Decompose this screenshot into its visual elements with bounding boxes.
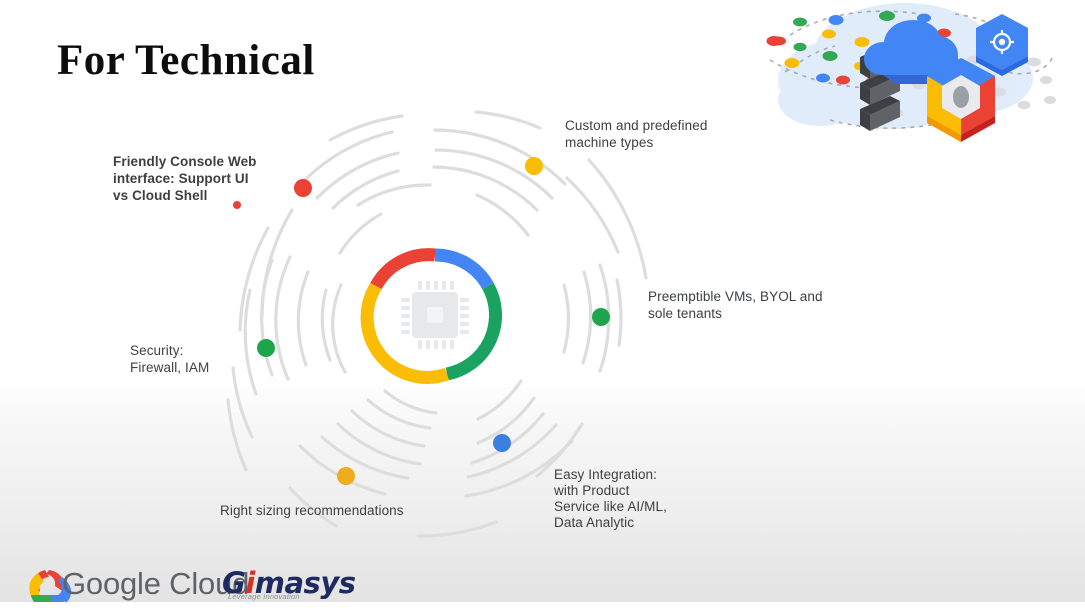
gimasys-tagline: Leverage Innovation [228,592,300,601]
footer-white-strip [0,602,1085,610]
slide-canvas: For Technical Friendly Console Web inter… [0,0,1085,610]
footer-logos [0,0,1085,610]
